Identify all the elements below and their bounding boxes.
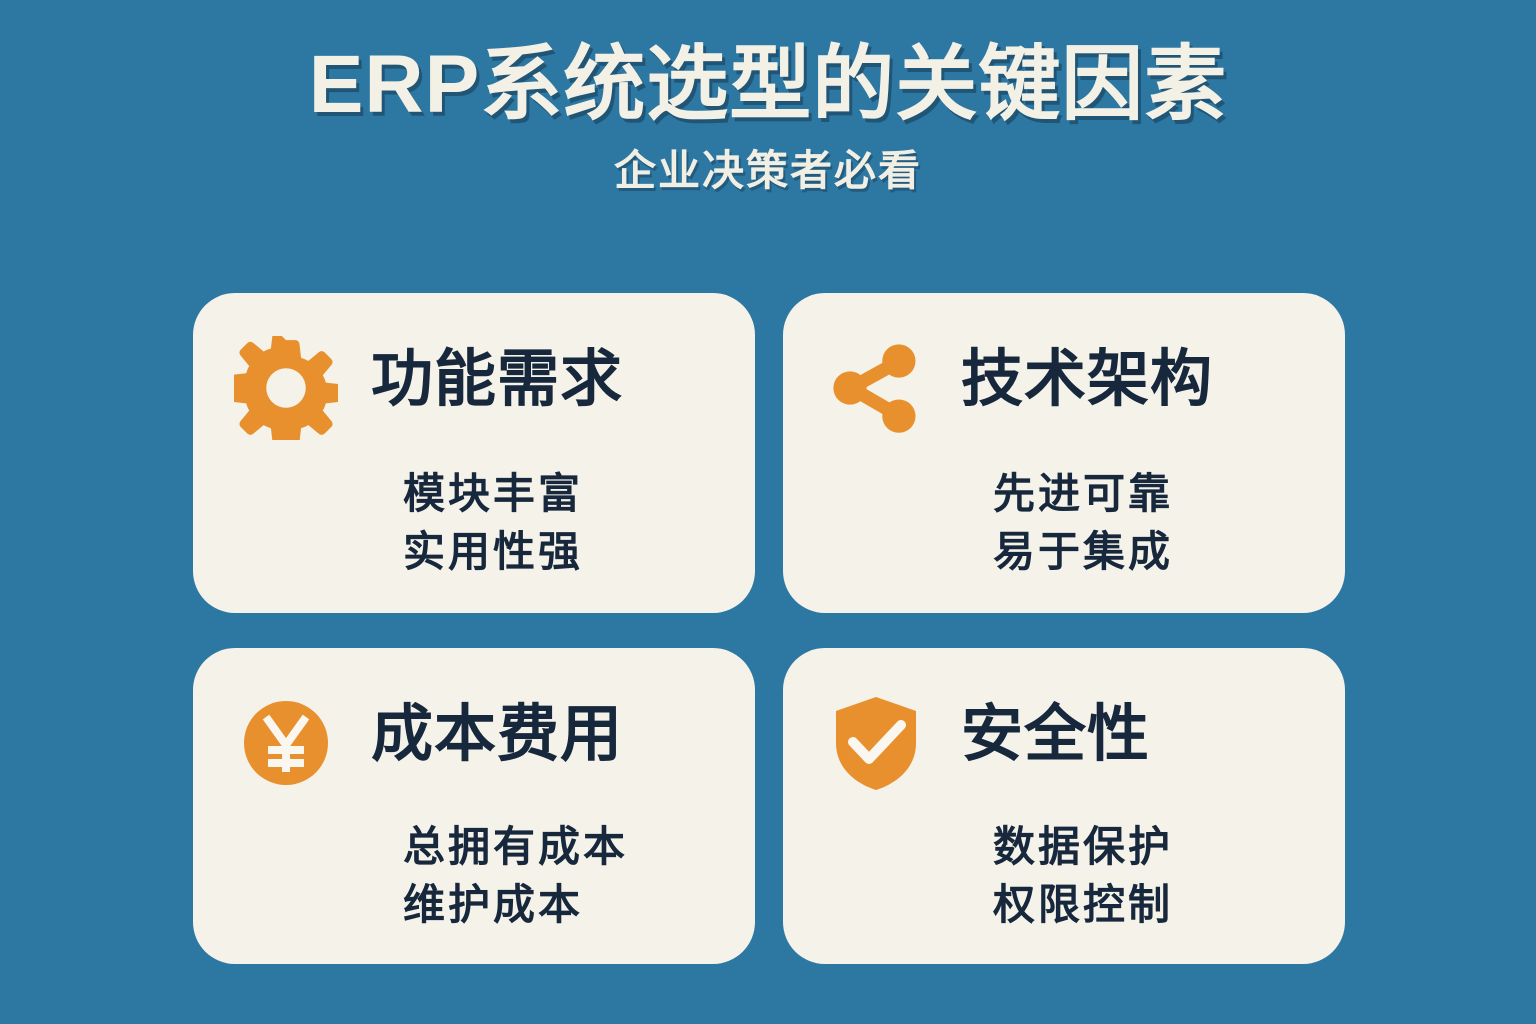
page-header: ERP系统选型的关键因素 企业决策者必看 [0,0,1536,192]
card-line: 总拥有成本 [403,818,725,876]
page-subtitle: 企业决策者必看 [0,150,1536,192]
card-header: 安全性 [821,682,1315,812]
card-title: 成本费用 [371,682,623,766]
card-body: 先进可靠 易于集成 [821,465,1315,581]
card-body: 总拥有成本 维护成本 [231,818,725,934]
card-body: 模块丰富 实用性强 [231,465,725,581]
card-header: 功能需求 [231,327,725,459]
factor-card-grid: 功能需求 模块丰富 实用性强 技术架构 先进可 [193,293,1345,964]
card-line: 实用性强 [403,523,725,581]
card-header: 成本费用 [231,682,725,812]
card-title: 功能需求 [371,327,623,411]
card-title: 技术架构 [961,327,1213,411]
card-cost[interactable]: 成本费用 总拥有成本 维护成本 [193,648,755,964]
card-line: 数据保护 [993,818,1315,876]
card-title: 安全性 [961,682,1150,766]
card-line: 模块丰富 [403,465,725,523]
card-line: 权限控制 [993,876,1315,934]
card-technical-architecture[interactable]: 技术架构 先进可靠 易于集成 [783,293,1345,613]
share-network-icon [821,327,931,449]
card-line: 维护成本 [403,876,725,934]
gear-icon [231,327,341,449]
card-functional-requirements[interactable]: 功能需求 模块丰富 实用性强 [193,293,755,613]
card-security[interactable]: 安全性 数据保护 权限控制 [783,648,1345,964]
card-header: 技术架构 [821,327,1315,459]
card-body: 数据保护 权限控制 [821,818,1315,934]
shield-check-icon [821,682,931,804]
card-line: 先进可靠 [993,465,1315,523]
card-line: 易于集成 [993,523,1315,581]
page-title: ERP系统选型的关键因素 [0,44,1536,126]
yuan-coin-icon [231,682,341,804]
